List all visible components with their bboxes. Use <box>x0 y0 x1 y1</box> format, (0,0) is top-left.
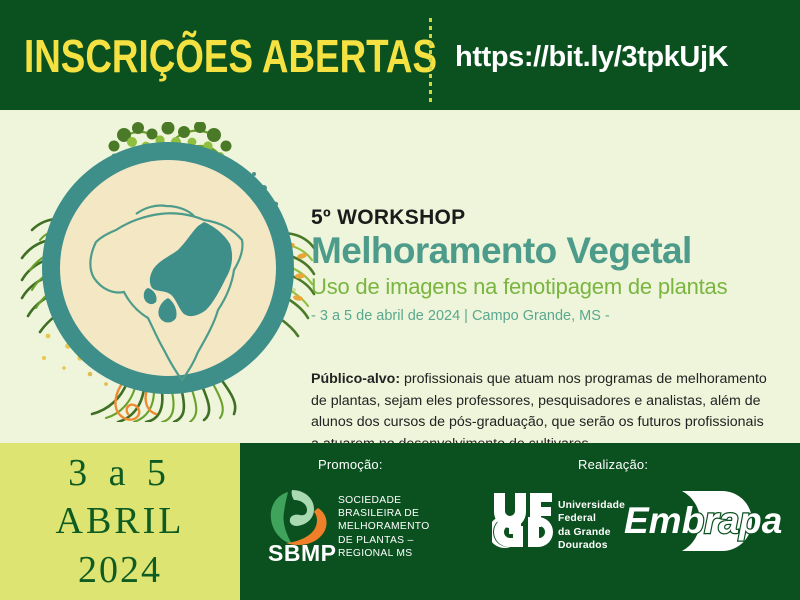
workshop-kicker: 5º WORKSHOP <box>311 206 781 229</box>
title-block: 5º WORKSHOP Melhoramento Vegetal Uso de … <box>311 206 781 326</box>
registration-open-text: INSCRIÇÕES ABERTAS <box>24 33 437 79</box>
embrapa-logo: Embrapa Embrapa <box>620 487 785 555</box>
main-content-area: 5º WORKSHOP Melhoramento Vegetal Uso de … <box>0 110 800 443</box>
event-poster: INSCRIÇÕES ABERTAS https://bit.ly/3tpkUj… <box>0 0 800 600</box>
header-dotted-divider <box>429 18 432 102</box>
date-month: ABRIL <box>56 497 185 546</box>
date-days: 3 a 5 <box>68 449 172 498</box>
page-subtitle: Uso de imagens na fenotipagem de plantas <box>311 274 781 299</box>
registration-link[interactable]: https://bit.ly/3tpkUjK <box>455 41 728 74</box>
sbmp-line-1: SOCIEDADE <box>338 494 430 507</box>
event-date-location: - 3 a 5 de abril de 2024 | Campo Grande,… <box>311 308 781 325</box>
audience-label: Público-alvo: <box>311 371 400 387</box>
ufgd-line-3: da Grande <box>558 526 625 539</box>
footer-bar: 3 a 5 ABRIL 2024 Promoção: Realização: S… <box>0 443 800 600</box>
ufgd-name-lines: Universidade Federal da Grande Dourados <box>558 499 625 553</box>
embrapa-mark-icon: Embrapa Embrapa <box>620 487 785 555</box>
ufgd-line-4: Dourados <box>558 539 625 552</box>
sbmp-line-4: DE PLANTAS – <box>338 534 430 547</box>
embrapa-wordmark: Embrapa <box>624 500 782 541</box>
date-year: 2024 <box>78 546 162 595</box>
sbmp-line-2: BRASILEIRA DE <box>338 507 430 520</box>
globe-brazil-illustration <box>18 122 318 422</box>
sbmp-line-5: REGIONAL MS <box>338 547 430 560</box>
sbmp-wordmark: SBMP <box>268 540 336 567</box>
header-bar: INSCRIÇÕES ABERTAS https://bit.ly/3tpkUj… <box>0 0 800 110</box>
globe-icon <box>18 122 318 422</box>
ufgd-logo: Universidade Federal da Grande Dourados <box>492 491 632 553</box>
ufgd-line-2: Federal <box>558 512 625 525</box>
realization-label: Realização: <box>578 457 648 472</box>
event-date-badge: 3 a 5 ABRIL 2024 <box>0 443 240 600</box>
ufgd-line-1: Universidade <box>558 499 625 512</box>
sbmp-name-lines: SOCIEDADE BRASILEIRA DE MELHORAMENTO DE … <box>338 494 430 560</box>
page-title: Melhoramento Vegetal <box>311 231 781 271</box>
ufgd-mark-icon <box>492 491 554 549</box>
sbmp-line-3: MELHORAMENTO <box>338 520 430 533</box>
promotion-label: Promoção: <box>318 457 383 472</box>
registration-open-banner: INSCRIÇÕES ABERTAS <box>24 26 414 86</box>
sbmp-logo: SBMP SOCIEDADE BRASILEIRA DE MELHORAMENT… <box>262 488 432 568</box>
